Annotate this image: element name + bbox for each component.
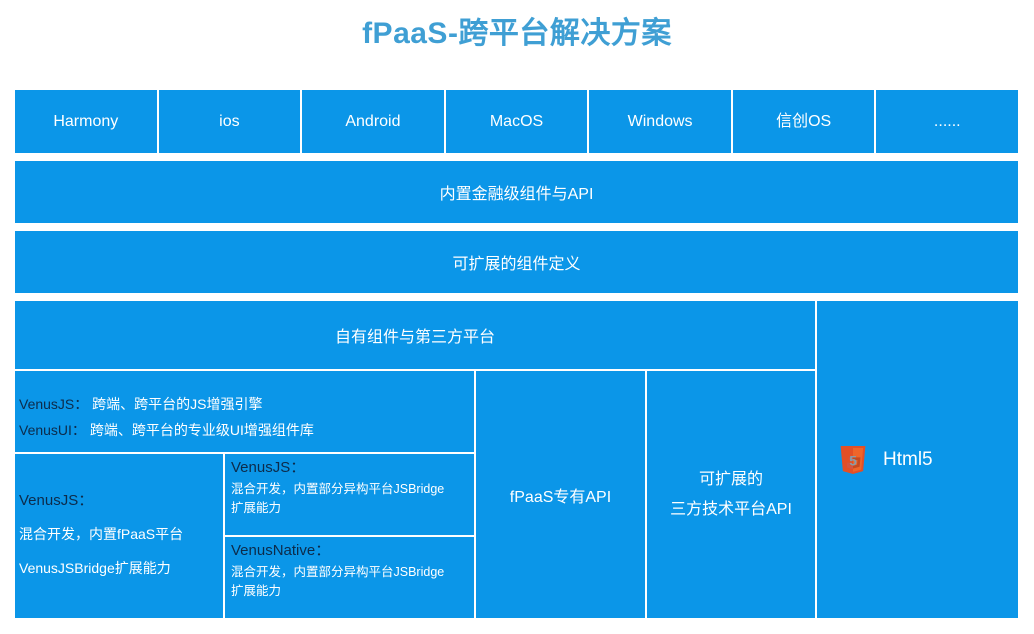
band-builtin-components: 内置金融级组件与API (15, 161, 1018, 223)
fpaas-api-label: fPaaS专有API (510, 483, 611, 507)
venus-summary-line-js: VenusJS： 跨端、跨平台的JS增强引擎 (19, 397, 470, 412)
platform-cell-xinchuang-os[interactable]: 信创OS (733, 90, 875, 153)
venus-hybrid-box: VenusJS： 混合开发，内置fPaaS平台 VenusJSBridge扩展能… (15, 454, 223, 618)
venus-card-line2: 扩展能力 (231, 582, 468, 601)
venus-summary-key: VenusJS： (19, 396, 88, 412)
third-party-api-line1: 可扩展的 (699, 465, 763, 495)
platform-cell-macos[interactable]: MacOS (446, 90, 588, 153)
band-third-party-label: 自有组件与第三方平台 (335, 323, 495, 347)
venus-hybrid-line1: 混合开发，内置fPaaS平台 (19, 524, 219, 544)
venus-card-native: VenusNative： 混合开发，内置部分异构平台JSBridge 扩展能力 (225, 537, 474, 618)
platform-row: Harmony ios Android MacOS Windows 信创OS .… (15, 90, 1018, 153)
venus-card-stack: VenusJS： 混合开发，内置部分异构平台JSBridge 扩展能力 Venu… (225, 454, 474, 618)
third-party-api-line2: 三方技术平台API (670, 495, 792, 525)
lower-columns: VenusJS： 跨端、跨平台的JS增强引擎 VenusUI： 跨端、跨平台的专… (15, 371, 815, 618)
page-title-text: fPaaS-跨平台解决方案 (362, 14, 672, 54)
venus-card-line1: 混合开发，内置部分异构平台JSBridge (231, 480, 468, 499)
venus-hybrid-line2: VenusJSBridge扩展能力 (19, 558, 219, 578)
platform-cell-windows[interactable]: Windows (589, 90, 731, 153)
venus-summary-text: 跨端、跨平台的专业级UI增强组件库 (90, 422, 314, 438)
venus-lower-row: VenusJS： 混合开发，内置fPaaS平台 VenusJSBridge扩展能… (15, 454, 474, 618)
platform-label: Harmony (53, 114, 118, 130)
venus-summary-line-ui: VenusUI： 跨端、跨平台的专业级UI增强组件库 (19, 423, 470, 438)
html5-shield-icon: 5 (839, 444, 867, 476)
venus-card-line2: 扩展能力 (231, 499, 468, 518)
diagram-page: fPaaS-跨平台解决方案 Harmony ios Android MacOS … (0, 0, 1034, 634)
html5-panel: 5 Html5 (817, 301, 1018, 618)
band-third-party-platform: 自有组件与第三方平台 (15, 301, 815, 369)
platform-cell-ios[interactable]: ios (159, 90, 301, 153)
platform-label: ios (219, 114, 239, 130)
fpaas-proprietary-api-column: fPaaS专有API (476, 371, 645, 618)
platform-label: Android (345, 114, 400, 130)
platform-label: 信创OS (776, 114, 831, 130)
platform-cell-android[interactable]: Android (302, 90, 444, 153)
band-builtin-label: 内置金融级组件与API (440, 180, 594, 204)
venus-column: VenusJS： 跨端、跨平台的JS增强引擎 VenusUI： 跨端、跨平台的专… (15, 371, 474, 618)
platform-cell-harmony[interactable]: Harmony (15, 90, 157, 153)
platform-label: ...... (934, 114, 961, 130)
band-extensible-definition: 可扩展的组件定义 (15, 231, 1018, 293)
venus-card-key: VenusNative： (231, 542, 468, 561)
venus-summary-text: 跨端、跨平台的JS增强引擎 (92, 396, 262, 412)
venus-card-line1: 混合开发，内置部分异构平台JSBridge (231, 563, 468, 582)
venus-hybrid-key: VenusJS： (19, 493, 219, 510)
html5-label: Html5 (883, 450, 933, 469)
main-left-group: 自有组件与第三方平台 VenusJS： 跨端、跨平台的JS增强引擎 VenusU… (15, 301, 815, 618)
platform-label: MacOS (490, 114, 543, 130)
platform-cell-more[interactable]: ...... (876, 90, 1018, 153)
platform-label: Windows (628, 114, 693, 130)
venus-summary-key: VenusUI： (19, 422, 86, 438)
architecture-diagram: Harmony ios Android MacOS Windows 信创OS .… (15, 90, 1018, 618)
venus-summary-box: VenusJS： 跨端、跨平台的JS增强引擎 VenusUI： 跨端、跨平台的专… (15, 371, 474, 452)
band-extensible-label: 可扩展的组件定义 (452, 250, 580, 274)
venus-card-key: VenusJS： (231, 459, 468, 478)
page-title: fPaaS-跨平台解决方案 (0, 14, 1034, 54)
venus-card-js: VenusJS： 混合开发，内置部分异构平台JSBridge 扩展能力 (225, 454, 474, 535)
svg-text:5: 5 (849, 453, 857, 468)
third-party-api-column: 可扩展的 三方技术平台API (647, 371, 815, 618)
main-body-row: 自有组件与第三方平台 VenusJS： 跨端、跨平台的JS增强引擎 VenusU… (15, 301, 1018, 618)
